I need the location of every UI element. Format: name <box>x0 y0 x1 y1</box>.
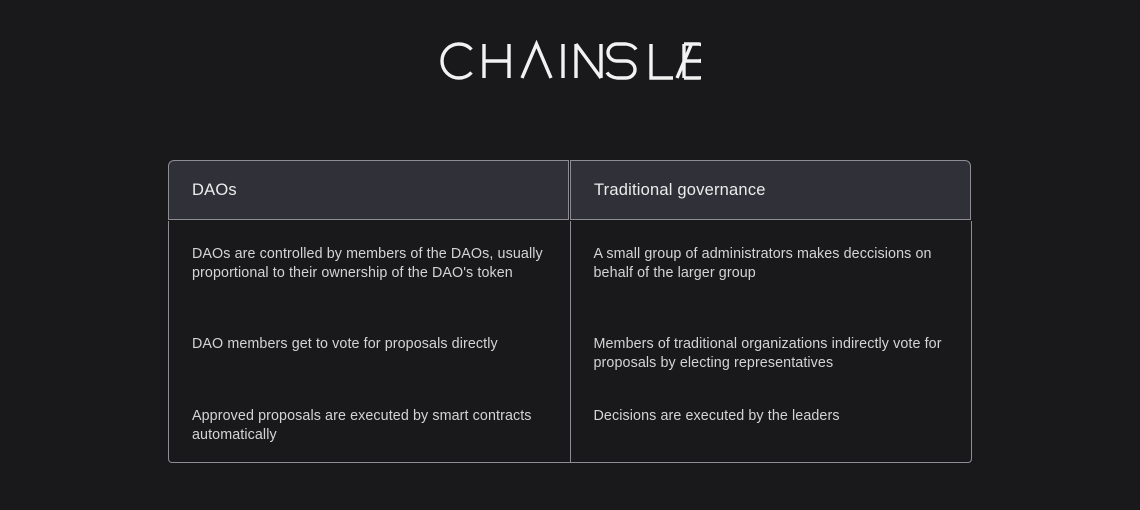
table-cell-daos-0: DAOs are controlled by members of the DA… <box>192 245 547 282</box>
table-row: Members of traditional organizations ind… <box>594 335 949 407</box>
slide-root: DAOs Traditional governance DAOs are con… <box>0 0 1140 510</box>
table-row: A small group of administrators makes de… <box>594 245 949 335</box>
column-header-label: DAOs <box>192 181 237 200</box>
table-cell-daos-1: DAO members get to vote for proposals di… <box>192 335 547 354</box>
table-row: Decisions are executed by the leaders <box>594 407 949 463</box>
brand-logo <box>0 40 1140 82</box>
table-header-cell-daos: DAOs <box>168 160 569 220</box>
table-cell-daos-2: Approved proposals are executed by smart… <box>192 407 547 444</box>
table-row: DAO members get to vote for proposals di… <box>192 335 547 407</box>
table-row: Approved proposals are executed by smart… <box>192 407 547 463</box>
column-header-label: Traditional governance <box>594 181 766 200</box>
table-column-traditional: A small group of administrators makes de… <box>570 221 972 462</box>
table-header-row: DAOs Traditional governance <box>168 160 972 220</box>
table-body: DAOs are controlled by members of the DA… <box>168 221 972 463</box>
table-row: DAOs are controlled by members of the DA… <box>192 245 547 335</box>
comparison-table: DAOs Traditional governance DAOs are con… <box>168 160 972 463</box>
chainslab-wordmark-icon <box>439 40 701 82</box>
table-cell-traditional-2: Decisions are executed by the leaders <box>594 407 949 426</box>
table-header-cell-traditional: Traditional governance <box>570 160 971 220</box>
table-column-daos: DAOs are controlled by members of the DA… <box>169 221 570 462</box>
table-cell-traditional-1: Members of traditional organizations ind… <box>594 335 949 372</box>
table-cell-traditional-0: A small group of administrators makes de… <box>594 245 949 282</box>
